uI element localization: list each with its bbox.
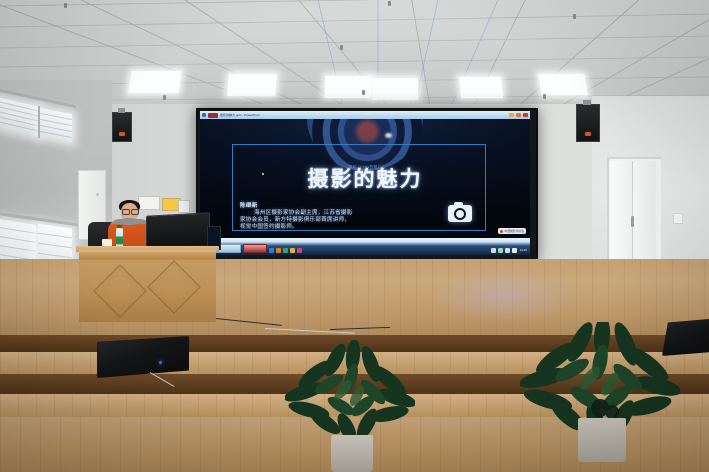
wall-poster: [178, 200, 190, 213]
chat-icon[interactable]: [283, 248, 288, 253]
lens-glint: [385, 133, 392, 138]
slide-logo: 中国摄影家协会: [498, 228, 526, 234]
sprinkler-icon: [573, 14, 576, 19]
jbl-logo-icon: [119, 132, 125, 136]
sprinkler-icon: [543, 94, 546, 99]
sprinkler-icon: [163, 95, 166, 100]
taskbar-window-powerpoint[interactable]: [243, 244, 267, 253]
speaker-mount: [118, 108, 125, 113]
podium-panel-diamond: [147, 260, 201, 314]
ceiling-light: [538, 74, 587, 95]
ceiling-light: [128, 71, 181, 93]
sprinkler-icon: [362, 90, 365, 95]
window-mullion: [38, 106, 40, 138]
wooden-podium: [79, 249, 216, 322]
jbl-speaker-left: [112, 112, 132, 142]
presenter-name: 陈继新: [240, 203, 430, 210]
ceiling-light: [459, 77, 503, 98]
plant-pot-right: [578, 418, 626, 462]
app-icon: [202, 113, 206, 117]
camera-icon: [448, 205, 472, 222]
slide-title: 摄影的魅力: [200, 163, 530, 193]
window-controls[interactable]: [509, 113, 528, 117]
system-tray[interactable]: 14:26: [491, 248, 527, 253]
floor-light-reflection: [430, 268, 580, 322]
bio-line-3: 视觉中国签约摄影师。: [240, 224, 430, 231]
browser-icon[interactable]: [269, 248, 274, 253]
logo-dot-icon: [500, 230, 503, 233]
minimize-button[interactable]: [509, 113, 514, 117]
door-handle[interactable]: [631, 216, 634, 227]
speaker-mount: [583, 100, 591, 105]
media-player-icon[interactable]: [276, 248, 281, 253]
led-display[interactable]: 摄影的魅力.pptx - PowerPoint 摄影／Lens的魅力 摄影的魅力…: [200, 111, 530, 255]
window-upper-mid: [40, 108, 72, 142]
shield-icon[interactable]: [505, 248, 510, 253]
maximize-button[interactable]: [516, 113, 521, 117]
windows-taskbar[interactable]: 14:26: [200, 238, 530, 255]
ime-icon[interactable]: [512, 248, 517, 253]
close-button[interactable]: [523, 113, 528, 117]
glasses-icon: [122, 209, 130, 215]
window-title: 摄影的魅力.pptx - PowerPoint: [220, 113, 260, 118]
potted-plant-left: [285, 340, 415, 450]
double-door[interactable]: [633, 161, 656, 267]
bio-line-1: 海州区摄影家协会副主席，江苏省摄影: [240, 210, 430, 217]
jbl-speaker-right: [576, 104, 600, 142]
double-door[interactable]: [610, 161, 633, 267]
sprinkler-icon: [340, 45, 343, 50]
sprinkler-icon: [64, 3, 67, 8]
ceiling-light: [227, 74, 277, 96]
bio-line-2: 家协会会员，新方特摄影俱乐部首席讲师，: [240, 217, 430, 224]
wall-poster: [138, 196, 160, 210]
titlebar-chip: [208, 113, 218, 118]
plant-pot-left: [331, 435, 373, 472]
heart-icon[interactable]: [297, 248, 302, 253]
ceiling-light: [372, 78, 419, 100]
cabinet-handle: [96, 193, 99, 196]
window-titlebar: 摄影的魅力.pptx - PowerPoint: [200, 111, 530, 119]
lecture-hall-photo: 摄影的魅力.pptx - PowerPoint 摄影／Lens的魅力 摄影的魅力…: [0, 0, 709, 472]
jbl-logo-icon: [585, 132, 591, 136]
plant-leaves: [285, 340, 415, 450]
glasses-icon: [131, 209, 139, 215]
presentation-slide[interactable]: 摄影／Lens的魅力 摄影的魅力 陈继新 海州区摄影家协会副主席，江苏省摄影 家…: [200, 119, 530, 238]
podium-panel-diamond: [93, 264, 147, 318]
folder-icon[interactable]: [290, 248, 295, 253]
wall-switch[interactable]: [673, 213, 683, 224]
power-led-icon: [159, 361, 162, 364]
sprinkler-icon: [388, 1, 391, 6]
taskbar-clock[interactable]: 14:26: [519, 248, 527, 253]
network-icon[interactable]: [491, 248, 496, 253]
volume-icon[interactable]: [498, 248, 503, 253]
logo-text: 中国摄影家协会: [504, 229, 524, 233]
presenter-collar: [119, 218, 140, 225]
slide-body-text: 陈继新 海州区摄影家协会副主席，江苏省摄影 家协会会员，新方特摄影俱乐部首席讲师…: [240, 203, 430, 231]
